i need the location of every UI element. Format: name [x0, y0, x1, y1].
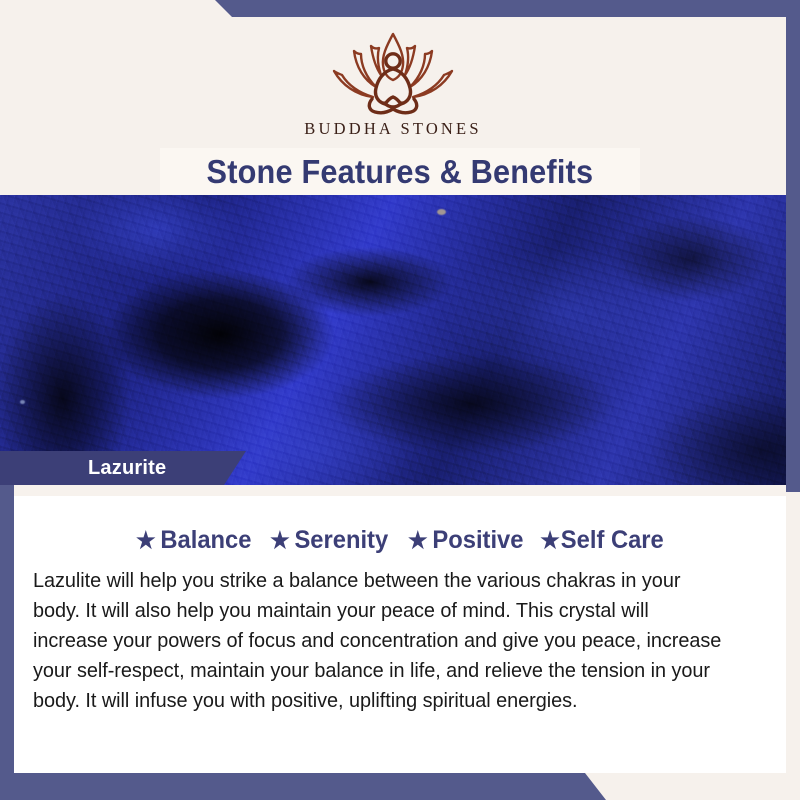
- decor-bottom-band: [0, 773, 800, 800]
- page-title: Stone Features & Benefits: [207, 153, 594, 191]
- keyword-list: ★ Balance ★ Serenity ★ Positive ★ Self C…: [14, 526, 786, 555]
- keyword-label: Positive: [432, 526, 523, 555]
- stone-photo-inclusion-2: [20, 400, 25, 404]
- keyword-serenity: ★ Serenity: [270, 526, 388, 555]
- stone-name-banner: Lazurite: [0, 451, 246, 485]
- body-card-top-strip: [14, 485, 786, 496]
- page-title-bar: Stone Features & Benefits: [160, 148, 640, 195]
- keyword-balance: ★ Balance: [136, 526, 251, 555]
- star-icon: ★: [540, 529, 560, 552]
- star-icon: ★: [408, 529, 428, 552]
- star-icon: ★: [136, 529, 156, 552]
- brand-logo: BUDDHA STONES: [0, 25, 786, 139]
- decor-left-edge: [0, 485, 14, 800]
- decor-right-edge: [786, 0, 800, 492]
- keyword-label: Serenity: [295, 526, 389, 555]
- brand-name: BUDDHA STONES: [304, 119, 481, 139]
- decor-top-band: [0, 0, 800, 17]
- poster-canvas: BUDDHA STONES Stone Features & Benefits …: [0, 0, 800, 800]
- body-paragraph: Lazulite will help you strike a balance …: [33, 566, 724, 716]
- stone-photo-texture: [0, 195, 786, 485]
- stone-name-label: Lazurite: [88, 458, 166, 478]
- stone-photo-inclusion: [437, 209, 446, 215]
- lotus-meditation-icon: [318, 25, 468, 117]
- stone-photo: [0, 195, 786, 485]
- keyword-self-care: ★ Self Care: [540, 526, 664, 555]
- keyword-label: Balance: [160, 526, 251, 555]
- keyword-label: Self Care: [561, 526, 664, 555]
- star-icon: ★: [270, 529, 290, 552]
- keyword-positive: ★ Positive: [408, 526, 523, 555]
